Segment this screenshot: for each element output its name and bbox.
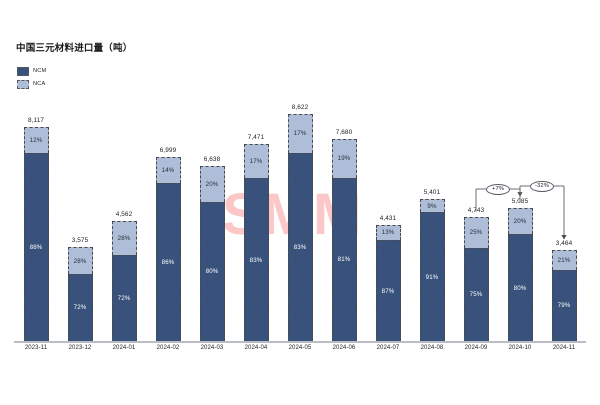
bar-segment-label-nca: 13% bbox=[382, 229, 395, 236]
bar-segment-label-ncm: 83% bbox=[294, 244, 307, 251]
bar-segment-nca[interactable]: 17% bbox=[288, 114, 313, 153]
bar-segment-label-nca: 20% bbox=[514, 218, 527, 225]
x-axis-tick-label: 2024-04 bbox=[234, 345, 278, 351]
bar-segment-label-nca: 17% bbox=[250, 158, 263, 165]
bar-segment-nca[interactable]: 13% bbox=[376, 225, 401, 240]
bar-group[interactable]: 7,68019%81% bbox=[332, 139, 357, 342]
bar-group[interactable]: 3,46421%79% bbox=[552, 250, 577, 342]
bar-segment-label-ncm: 83% bbox=[250, 257, 263, 264]
x-axis-tick-label: 2024-02 bbox=[146, 345, 190, 351]
bar-segment-nca[interactable]: 28% bbox=[112, 221, 137, 255]
x-axis-tick-label: 2024-10 bbox=[498, 345, 542, 351]
bar-segment-label-nca: 25% bbox=[470, 229, 483, 236]
chart-title: 中国三元材料进口量（吨） bbox=[16, 40, 132, 54]
bar-segment-label-nca: 14% bbox=[162, 167, 175, 174]
chart-container: 中国三元材料进口量（吨） NCM NCA SMM 8,11712%88%3,57… bbox=[0, 0, 600, 400]
bar-total-label: 8,622 bbox=[292, 104, 309, 111]
bar-segment-ncm[interactable]: 88% bbox=[24, 153, 49, 342]
bar-segment-ncm[interactable]: 86% bbox=[156, 183, 181, 342]
bar-segment-label-nca: 19% bbox=[338, 155, 351, 162]
bar-segment-label-nca: 12% bbox=[30, 137, 43, 144]
x-axis-tick-label: 2024-06 bbox=[322, 345, 366, 351]
legend-label-ncm: NCM bbox=[33, 68, 46, 74]
bar-group[interactable]: 5,08520%80% bbox=[508, 208, 533, 342]
bar-total-label: 6,638 bbox=[204, 156, 221, 163]
bar-group[interactable]: 4,74325%75% bbox=[464, 217, 489, 342]
legend-item-ncm[interactable]: NCM bbox=[17, 66, 46, 76]
legend-label-nca: NCA bbox=[33, 81, 45, 87]
bar-group[interactable]: 7,47117%83% bbox=[244, 144, 269, 342]
legend-item-nca[interactable]: NCA bbox=[17, 79, 46, 89]
bar-group[interactable]: 4,43113%87% bbox=[376, 225, 401, 342]
plot-area: 8,11712%88%3,57528%72%4,56228%72%6,99914… bbox=[14, 100, 586, 342]
bar-segment-label-nca: 28% bbox=[74, 258, 87, 265]
bar-segment-ncm[interactable]: 80% bbox=[200, 202, 225, 342]
x-axis-tick-label: 2023-11 bbox=[14, 345, 58, 351]
x-axis-tick-label: 2024-11 bbox=[542, 345, 586, 351]
bar-segment-label-ncm: 87% bbox=[382, 288, 395, 295]
x-axis-tick-label: 2024-07 bbox=[366, 345, 410, 351]
bar-segment-ncm[interactable]: 81% bbox=[332, 178, 357, 343]
bar-segment-label-ncm: 80% bbox=[206, 268, 219, 275]
bar-segment-nca[interactable]: 20% bbox=[200, 166, 225, 201]
x-axis-tick-label: 2024-08 bbox=[410, 345, 454, 351]
x-axis-tick-label: 2024-03 bbox=[190, 345, 234, 351]
bar-total-label: 7,680 bbox=[336, 129, 353, 136]
bar-segment-label-ncm: 80% bbox=[514, 285, 527, 292]
x-axis-tick-label: 2024-05 bbox=[278, 345, 322, 351]
bar-segment-label-ncm: 86% bbox=[162, 259, 175, 266]
bar-total-label: 8,117 bbox=[28, 117, 44, 124]
bar-group[interactable]: 6,99914%86% bbox=[156, 157, 181, 342]
bar-segment-nca[interactable]: 20% bbox=[508, 208, 533, 235]
bar-segment-ncm[interactable]: 91% bbox=[420, 212, 445, 342]
bar-segment-ncm[interactable]: 79% bbox=[552, 270, 577, 342]
bar-total-label: 5,401 bbox=[424, 189, 441, 196]
bar-segment-ncm[interactable]: 72% bbox=[68, 274, 93, 342]
bar-group[interactable]: 3,57528%72% bbox=[68, 247, 93, 342]
bar-segment-label-nca: 28% bbox=[118, 235, 131, 242]
bar-total-label: 7,471 bbox=[248, 134, 265, 141]
bar-segment-label-ncm: 79% bbox=[558, 302, 571, 309]
bar-group[interactable]: 6,63820%80% bbox=[200, 166, 225, 342]
bar-total-label: 4,431 bbox=[380, 215, 397, 222]
bar-total-label: 3,464 bbox=[556, 240, 573, 247]
bar-group[interactable]: 8,11712%88% bbox=[24, 127, 49, 342]
bar-segment-ncm[interactable]: 80% bbox=[508, 234, 533, 342]
bar-segment-ncm[interactable]: 75% bbox=[464, 248, 489, 342]
bar-total-label: 4,743 bbox=[468, 207, 485, 214]
bar-segment-label-nca: 17% bbox=[294, 130, 307, 137]
bar-segment-label-ncm: 81% bbox=[338, 256, 351, 263]
bar-segment-nca[interactable]: 21% bbox=[552, 250, 577, 269]
bar-segment-nca[interactable]: 28% bbox=[68, 247, 93, 273]
bar-total-label: 5,085 bbox=[512, 198, 529, 205]
bar-segment-ncm[interactable]: 87% bbox=[376, 240, 401, 342]
bar-segment-ncm[interactable]: 83% bbox=[288, 153, 313, 342]
bar-segment-label-ncm: 91% bbox=[426, 274, 439, 281]
x-axis-tick-label: 2023-12 bbox=[58, 345, 102, 351]
legend-swatch-nca bbox=[17, 80, 29, 89]
bar-group[interactable]: 5,4019%91% bbox=[420, 199, 445, 342]
bar-segment-label-ncm: 88% bbox=[30, 244, 43, 251]
bar-segment-label-ncm: 75% bbox=[470, 291, 483, 298]
bar-segment-nca[interactable]: 25% bbox=[464, 217, 489, 248]
bar-segment-label-nca: 9% bbox=[427, 203, 436, 210]
bar-segment-nca[interactable]: 19% bbox=[332, 139, 357, 178]
x-axis-line bbox=[14, 341, 586, 343]
x-axis-tick-label: 2024-01 bbox=[102, 345, 146, 351]
bar-segment-label-nca: 21% bbox=[558, 257, 571, 264]
bar-group[interactable]: 4,56228%72% bbox=[112, 221, 137, 342]
legend-swatch-ncm bbox=[17, 67, 29, 76]
x-axis-labels: 2023-112023-122024-012024-022024-032024-… bbox=[14, 345, 586, 359]
bar-total-label: 4,562 bbox=[116, 211, 133, 218]
x-axis-tick-label: 2024-09 bbox=[454, 345, 498, 351]
bar-total-label: 3,575 bbox=[72, 237, 89, 244]
bar-segment-ncm[interactable]: 72% bbox=[112, 255, 137, 342]
bar-segment-nca[interactable]: 17% bbox=[244, 144, 269, 178]
bar-segment-label-nca: 20% bbox=[206, 181, 219, 188]
bar-group[interactable]: 8,62217%83% bbox=[288, 114, 313, 342]
chart-legend: NCM NCA bbox=[17, 66, 46, 89]
bar-segment-nca[interactable]: 9% bbox=[420, 199, 445, 212]
bar-segment-ncm[interactable]: 83% bbox=[244, 178, 269, 342]
bar-segment-nca[interactable]: 14% bbox=[156, 157, 181, 183]
bar-total-label: 6,999 bbox=[160, 147, 177, 154]
bar-segment-label-ncm: 72% bbox=[74, 304, 87, 311]
bar-segment-label-ncm: 72% bbox=[118, 295, 131, 302]
bar-segment-nca[interactable]: 12% bbox=[24, 127, 49, 153]
